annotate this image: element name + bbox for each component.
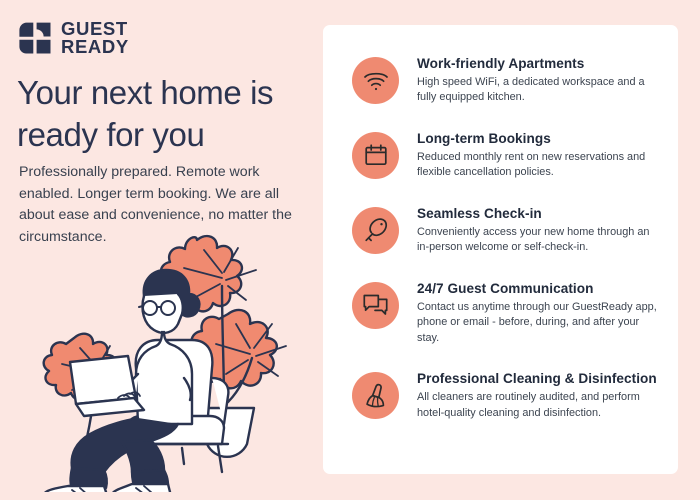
feature-description: Conveniently access your new home throug… — [417, 225, 662, 256]
feature-description: All cleaners are routinely audited, and … — [417, 390, 662, 421]
feature-title: Seamless Check-in — [417, 206, 662, 221]
feature-description: High speed WiFi, a dedicated workspace a… — [417, 75, 662, 106]
feature-title: Work-friendly Apartments — [417, 56, 662, 71]
brand-wordmark-line-2: READY — [61, 38, 129, 56]
hero-column: GUEST READY Your next home is ready for … — [0, 0, 322, 500]
feature-title: 24/7 Guest Communication — [417, 281, 662, 296]
feature-title: Long-term Bookings — [417, 131, 662, 146]
broom-icon — [352, 372, 399, 419]
hero-headline: Your next home is ready for you — [17, 72, 317, 155]
key-icon — [352, 207, 399, 254]
feature-item-seamless-check-in[interactable]: Seamless Check-in Conveniently access yo… — [352, 205, 662, 256]
feature-description: Contact us anytime through our GuestRead… — [417, 300, 662, 346]
guestready-quadrant-logo-icon — [18, 21, 52, 55]
feature-item-professional-cleaning[interactable]: Professional Cleaning & Disinfection All… — [352, 370, 662, 421]
feature-text-block: Long-term Bookings Reduced monthly rent … — [417, 130, 662, 181]
feature-item-work-friendly-apartments[interactable]: Work-friendly Apartments High speed WiFi… — [352, 55, 662, 106]
feature-description: Reduced monthly rent on new reservations… — [417, 150, 662, 181]
features-list: Work-friendly Apartments High speed WiFi… — [323, 25, 678, 421]
woman-with-laptop-in-armchair-with-plants-illustration — [32, 228, 314, 492]
feature-text-block: 24/7 Guest Communication Contact us anyt… — [417, 280, 662, 346]
features-card: Work-friendly Apartments High speed WiFi… — [323, 25, 678, 474]
feature-title: Professional Cleaning & Disinfection — [417, 371, 662, 386]
chat-bubbles-icon — [352, 282, 399, 329]
feature-text-block: Professional Cleaning & Disinfection All… — [417, 370, 662, 421]
feature-text-block: Work-friendly Apartments High speed WiFi… — [417, 55, 662, 106]
feature-text-block: Seamless Check-in Conveniently access yo… — [417, 205, 662, 256]
calendar-icon — [352, 132, 399, 179]
feature-item-long-term-bookings[interactable]: Long-term Bookings Reduced monthly rent … — [352, 130, 662, 181]
feature-item-guest-communication[interactable]: 24/7 Guest Communication Contact us anyt… — [352, 280, 662, 346]
wifi-icon — [352, 57, 399, 104]
brand-logo[interactable]: GUEST READY — [18, 20, 129, 56]
brand-wordmark: GUEST READY — [61, 20, 129, 56]
